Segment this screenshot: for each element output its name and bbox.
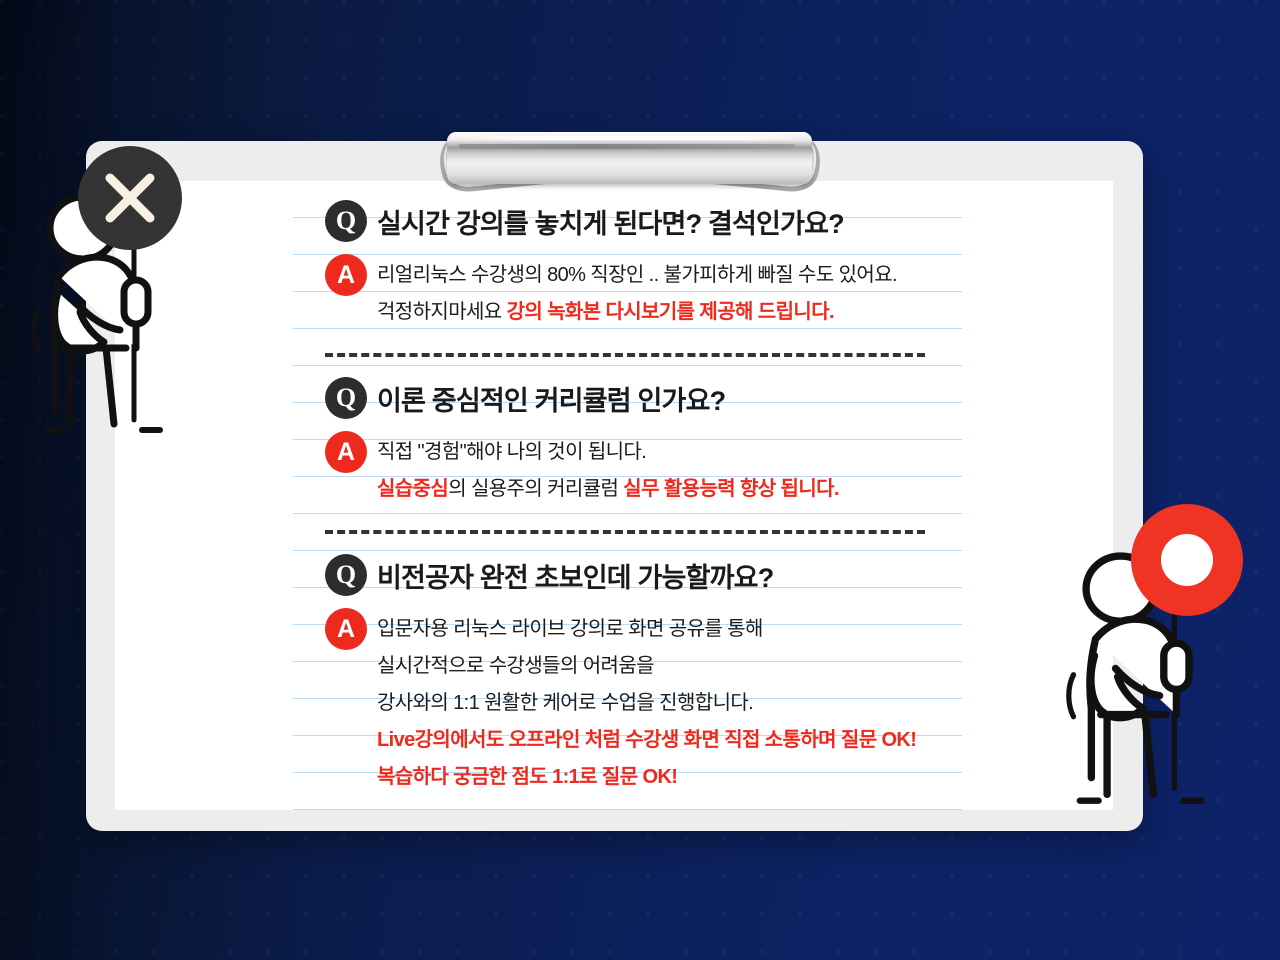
faq-answer-lines: 리얼리눅스 수강생의 80% 직장인 .. 불가피하게 빠질 수도 있어요.걱정… bbox=[377, 254, 897, 331]
o-mark-icon bbox=[1161, 534, 1213, 586]
infographic-canvas: Q실시간 강의를 놓치게 된다면? 결석인가요?A리얼리눅스 수강생의 80% … bbox=[0, 0, 1280, 960]
faq-answer-lines: 직접 "경험"해야 나의 것이 됩니다.실습중심의 실용주의 커리큘럼 실무 활… bbox=[377, 431, 839, 508]
faq-answer-line: 실습중심의 실용주의 커리큘럼 실무 활용능력 향상 됩니다. bbox=[377, 471, 839, 508]
faq-answer-line: 강사와의 1:1 원활한 케어로 수업을 진행합니다. bbox=[377, 685, 916, 722]
faq-answer-line: 리얼리눅스 수강생의 80% 직장인 .. 불가피하게 빠질 수도 있어요. bbox=[377, 257, 897, 294]
faq-answer-lines: 입문자용 리눅스 라이브 강의로 화면 공유를 통해실시간적으로 수강생들의 어… bbox=[377, 608, 916, 796]
plain-text: 의 실용주의 커리큘럼 bbox=[448, 478, 623, 500]
faq-answer-line: 입문자용 리눅스 라이브 강의로 화면 공유를 통해 bbox=[377, 611, 916, 648]
plain-text: 실시간적으로 수강생들의 어려움을 bbox=[377, 655, 654, 677]
emphasis-text: 실무 활용능력 향상 됩니다. bbox=[623, 478, 839, 500]
plain-text: 입문자용 리눅스 라이브 강의로 화면 공유를 통해 bbox=[377, 618, 763, 640]
o-mark-sign bbox=[1131, 504, 1243, 616]
faq-question-text: 실시간 강의를 놓치게 된다면? 결석인가요? bbox=[377, 202, 844, 241]
answer-badge: A bbox=[325, 608, 367, 650]
faq-answer-line: 직접 "경험"해야 나의 것이 됩니다. bbox=[377, 434, 839, 471]
faq-question-text: 이론 중심적인 커리큘럼 인가요? bbox=[377, 379, 725, 418]
clip-shadow-line bbox=[459, 144, 795, 149]
x-mark-sign bbox=[78, 146, 182, 250]
faq-answer-line: 복습하다 궁금한 점도 1:1로 질문 OK! bbox=[377, 759, 916, 796]
clip-highlight bbox=[461, 136, 793, 140]
faq-divider bbox=[325, 353, 925, 357]
faq-item: Q실시간 강의를 놓치게 된다면? 결석인가요?A리얼리눅스 수강생의 80% … bbox=[325, 200, 1005, 331]
faq-question-text: 비전공자 완전 초보인데 가능할까요? bbox=[377, 556, 773, 595]
faq-answer-row: A리얼리눅스 수강생의 80% 직장인 .. 불가피하게 빠질 수도 있어요.걱… bbox=[325, 254, 1005, 331]
question-badge: Q bbox=[325, 554, 367, 596]
plain-text: 강사와의 1:1 원활한 케어로 수업을 진행합니다. bbox=[377, 692, 753, 714]
faq-list: Q실시간 강의를 놓치게 된다면? 결석인가요?A리얼리눅스 수강생의 80% … bbox=[325, 200, 1005, 796]
faq-question-row: Q비전공자 완전 초보인데 가능할까요? bbox=[325, 554, 1005, 596]
x-mark-icon bbox=[100, 168, 160, 228]
faq-answer-line: 실시간적으로 수강생들의 어려움을 bbox=[377, 648, 916, 685]
faq-item: Q이론 중심적인 커리큘럼 인가요?A직접 "경험"해야 나의 것이 됩니다.실… bbox=[325, 377, 1005, 508]
clipboard-metal-clip bbox=[437, 124, 822, 196]
faq-answer-row: A직접 "경험"해야 나의 것이 됩니다.실습중심의 실용주의 커리큘럼 실무 … bbox=[325, 431, 1005, 508]
emphasis-text: 실습중심 bbox=[377, 478, 448, 500]
emphasis-text: 강의 녹화본 다시보기를 제공해 드립니다. bbox=[507, 301, 834, 323]
faq-answer-line: Live강의에서도 오프라인 처럼 수강생 화면 직접 소통하며 질문 OK! bbox=[377, 722, 916, 759]
faq-question-row: Q이론 중심적인 커리큘럼 인가요? bbox=[325, 377, 1005, 419]
faq-item: Q비전공자 완전 초보인데 가능할까요?A입문자용 리눅스 라이브 강의로 화면… bbox=[325, 554, 1005, 796]
emphasis-text: Live강의에서도 오프라인 처럼 수강생 화면 직접 소통하며 질문 OK! bbox=[377, 729, 916, 751]
faq-question-row: Q실시간 강의를 놓치게 된다면? 결석인가요? bbox=[325, 200, 1005, 242]
emphasis-text: 복습하다 궁금한 점도 1:1로 질문 OK! bbox=[377, 766, 677, 788]
answer-badge: A bbox=[325, 254, 367, 296]
plain-text: 걱정하지마세요 bbox=[377, 301, 507, 323]
question-badge: Q bbox=[325, 377, 367, 419]
question-badge: Q bbox=[325, 200, 367, 242]
plain-text: 리얼리눅스 수강생의 80% 직장인 .. 불가피하게 빠질 수도 있어요. bbox=[377, 264, 897, 286]
faq-answer-row: A입문자용 리눅스 라이브 강의로 화면 공유를 통해실시간적으로 수강생들의 … bbox=[325, 608, 1005, 796]
answer-badge: A bbox=[325, 431, 367, 473]
faq-answer-line: 걱정하지마세요 강의 녹화본 다시보기를 제공해 드립니다. bbox=[377, 294, 897, 331]
plain-text: 직접 "경험"해야 나의 것이 됩니다. bbox=[377, 441, 646, 463]
faq-divider bbox=[325, 530, 925, 534]
